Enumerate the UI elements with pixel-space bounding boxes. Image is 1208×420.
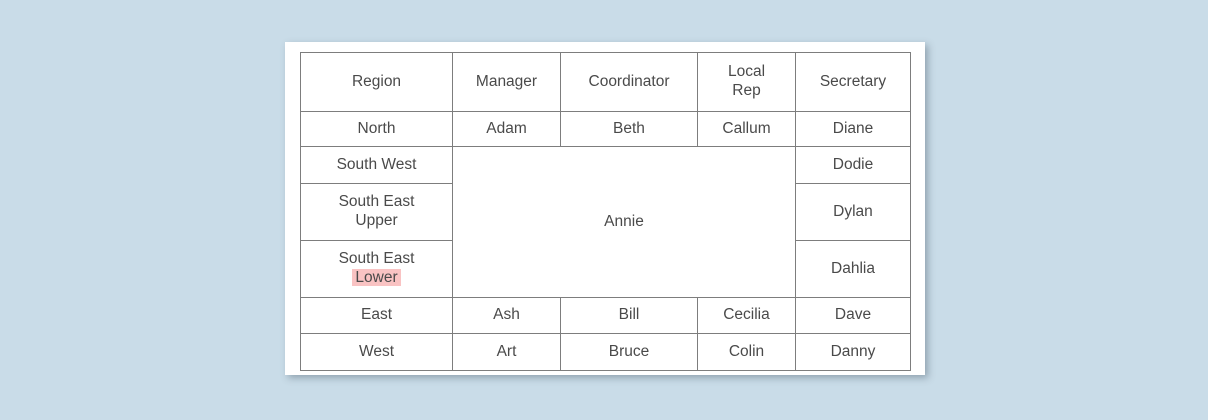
cell-local-rep-north: Callum	[698, 112, 796, 147]
page-root: Region Manager Coordinator Local Rep Sec…	[0, 0, 1208, 420]
header-local-rep-line1: Local	[728, 63, 765, 80]
region-seu-line2: Upper	[355, 212, 397, 229]
cell-coordinator-west: Bruce	[561, 334, 698, 371]
table-row: North Adam Beth Callum Diane	[301, 112, 911, 147]
cell-region-west: West	[301, 334, 453, 371]
region-seu-line1: South East	[339, 193, 415, 210]
table-card: Region Manager Coordinator Local Rep Sec…	[285, 42, 925, 375]
cell-coordinator-north: Beth	[561, 112, 698, 147]
cell-secretary-south-east-lower: Dahlia	[796, 241, 911, 298]
cell-secretary-east: Dave	[796, 298, 911, 334]
cell-manager-west: Art	[453, 334, 561, 371]
cell-coordinator-east: Bill	[561, 298, 698, 334]
staff-assignment-table: Region Manager Coordinator Local Rep Sec…	[300, 52, 911, 371]
cell-region-south-west: South West	[301, 147, 453, 184]
header-cell-region: Region	[301, 53, 453, 112]
region-sel-line2-highlighted: Lower	[352, 269, 400, 286]
cell-secretary-north: Diane	[796, 112, 911, 147]
cell-manager-east: Ash	[453, 298, 561, 334]
cell-local-rep-west: Colin	[698, 334, 796, 371]
header-cell-local-rep: Local Rep	[698, 53, 796, 112]
cell-region-south-east-lower: South East Lower	[301, 241, 453, 298]
cell-secretary-west: Danny	[796, 334, 911, 371]
table-row: West Art Bruce Colin Danny	[301, 334, 911, 371]
cell-region-north: North	[301, 112, 453, 147]
cell-secretary-south-east-upper: Dylan	[796, 184, 911, 241]
table-header-row: Region Manager Coordinator Local Rep Sec…	[301, 53, 911, 112]
cell-secretary-south-west: Dodie	[796, 147, 911, 184]
cell-local-rep-east: Cecilia	[698, 298, 796, 334]
cell-merged-annie: Annie	[453, 147, 796, 298]
cell-region-south-east-upper: South East Upper	[301, 184, 453, 241]
header-cell-secretary: Secretary	[796, 53, 911, 112]
cell-region-east: East	[301, 298, 453, 334]
table-row: East Ash Bill Cecilia Dave	[301, 298, 911, 334]
header-cell-manager: Manager	[453, 53, 561, 112]
cell-manager-north: Adam	[453, 112, 561, 147]
header-cell-coordinator: Coordinator	[561, 53, 698, 112]
header-local-rep-line2: Rep	[732, 82, 760, 99]
region-sel-line1: South East	[339, 250, 415, 267]
table-row: South West Annie Dodie	[301, 147, 911, 184]
